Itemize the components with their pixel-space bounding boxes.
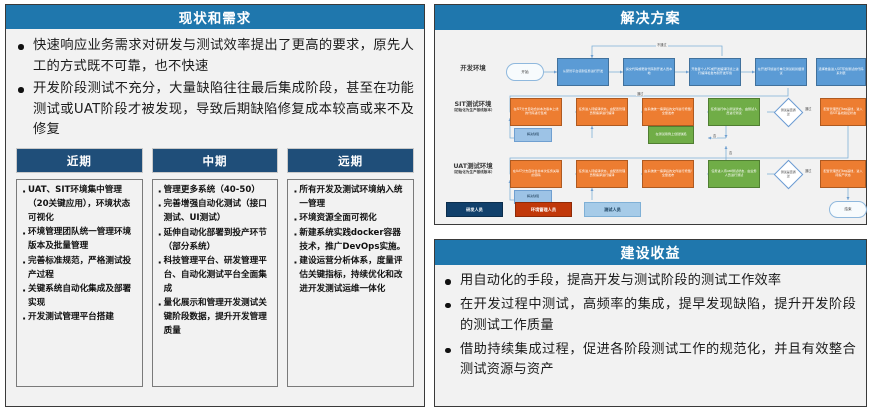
list-item: 完善增强自动化测试（接口测试、UI测试） — [157, 198, 274, 226]
list-item: 关键系统自动化集成及部署实现 — [21, 283, 138, 311]
flow-node-sit-1[interactable]: 在SIT分支自动合并本次版本上线的代码进行集成 — [510, 98, 562, 126]
list-item: 延伸自动化部署到投产环节（部分系统） — [157, 227, 274, 255]
phase-columns: 近期 UAT、SIT环境集中管理（20关键应用），环境状态可视化 环境管理团队统… — [16, 148, 414, 387]
flow-node-end[interactable]: 结束 — [829, 201, 867, 218]
edge-label-pass-dev: 通过 — [636, 91, 644, 96]
flow-node-sit-fix-defect[interactable]: 解决缺陷 — [514, 128, 552, 142]
flow-node-dev-2[interactable]: 提交代码或更新代码到开发人员本地 — [623, 58, 675, 86]
solution-panel: 解决方案 — [434, 4, 867, 225]
list-item: 借助持续集成过程，促进各阶段测试工作的规范化，并且有效整合测试资源与资产 — [443, 340, 856, 382]
flow-node-create-defect[interactable]: 在测试用例上创建缺陷 — [648, 126, 694, 144]
edge-label-no-uat: 否 — [728, 150, 733, 155]
flow-node-uat-5[interactable]: 配置管理员打tag基线，进入待投产状态 — [820, 160, 866, 188]
phase-header-near-term: 近期 — [16, 148, 143, 173]
list-item: 开发测试管理平台搭建 — [21, 311, 138, 325]
list-item: 用自动化的手段，提高开发与测试阶段的测试工作效率 — [443, 271, 856, 292]
slide-canvas: 现状和需求 快速响应业务需求对研发与测试效率提出了更高的要求，原先人工的方式既不… — [0, 0, 871, 411]
list-item: UAT、SIT环境集中管理（20关键应用），环境状态可视化 — [21, 184, 138, 226]
flow-node-sit-5[interactable]: 配置管理员打tag基线，进入待SIT基线验证状态 — [820, 98, 866, 126]
flow-node-uat-1[interactable]: 在UAT分支自动合并本次任务关联的源码 — [510, 160, 562, 188]
flow-node-uat-2[interactable]: 任务进入待编译状态，由配置管理员预编译进行编译 — [576, 160, 628, 188]
phase-box-near-term: UAT、SIT环境集中管理（20关键应用），环境状态可视化 环境管理团队统一管理… — [16, 179, 143, 387]
flow-node-start[interactable]: 开始 — [506, 63, 544, 81]
flow-node-dev-3[interactable]: 开发者个人PC或开发编译环境上进行编译和发布到开发环境 — [689, 58, 741, 86]
phase-list-long-term: 所有开发及测试环境纳入统一管理 环境资源全面可视化 新建系统实践docker容器… — [292, 184, 409, 297]
phase-list-near-term: UAT、SIT环境集中管理（20关键应用），环境状态可视化 环境管理团队统一管理… — [21, 184, 138, 325]
legend-item-env-admin: 环境管理人员 — [515, 202, 572, 217]
row-label-dev-env: 开发环境 — [444, 64, 502, 72]
edge-label-fail-top: 不通过 — [656, 42, 668, 47]
current-status-bullet-list: 快速响应业务需求对研发与测试效率提出了更高的要求，原先人工的方式既不可靠，也不快… — [16, 36, 414, 141]
edge-label-no-sit: 否 — [712, 133, 717, 138]
flow-node-dev-5[interactable]: 选择准备进入SIT环境测试的代码系列表 — [816, 58, 866, 86]
flow-node-uat-3[interactable]: 由系统统一编译后的文件进行增量/全量发布 — [642, 160, 694, 188]
phase-list-mid-term: 管理更多系统（40-50） 完善增强自动化测试（接口测试、UI测试） 延伸自动化… — [157, 184, 274, 339]
edge-label-pass-sit: 通过 — [804, 106, 812, 111]
list-item: 管理更多系统（40-50） — [157, 184, 274, 198]
list-item: 在开发过程中测试，高频率的集成，提早发现缺陷，提升开发阶段的测试工作质量 — [443, 295, 856, 337]
list-item: 新建系统实践docker容器技术，推广DevOps实施。 — [292, 227, 409, 255]
list-item: 开发阶段测试不充分，大量缺陷往往最后集成阶段，甚至在功能测试或UAT阶段才被发现… — [16, 79, 414, 141]
benefits-bullet-list: 用自动化的手段，提高开发与测试阶段的测试工作效率 在开发过程中测试，高频率的集成… — [443, 271, 856, 381]
row-label-sit-env: SIT测试环境 （初始化为生产基线版本） — [442, 100, 504, 113]
legend-item-rd-staff: 研发人员 — [446, 202, 503, 217]
flowchart-legend: 研发人员 环境管理人员 测试人员 — [446, 202, 641, 217]
list-item: 建设运营分析体系，度量评估关键指标，持续优化和改进开发测试运维一体化 — [292, 255, 409, 297]
flow-node-dev-4[interactable]: 在开发环境进行单元测试和冒烟测试 — [755, 58, 807, 86]
list-item: 环境资源全面可视化 — [292, 212, 409, 226]
flow-node-sit-2[interactable]: 任务进入待编译状态，由配置管理员预编译进行编译 — [576, 98, 628, 126]
phase-column-mid-term: 中期 管理更多系统（40-50） 完善增强自动化测试（接口测试、UI测试） 延伸… — [152, 148, 279, 387]
list-item: 所有开发及测试环境纳入统一管理 — [292, 184, 409, 212]
list-item: 科技管理平台、研发管理平台、自动化测试平台全面集成 — [157, 255, 274, 297]
list-item: 完善标准规范，严格测试投产过程 — [21, 255, 138, 283]
legend-item-tester: 测试人员 — [584, 202, 641, 217]
solution-body: 开发环境 SIT测试环境 （初始化为生产基线版本） UAT测试环境 （初始化为生… — [435, 30, 866, 224]
current-status-body: 快速响应业务需求对研发与测试效率提出了更高的要求，原先人工的方式既不可靠，也不快… — [6, 29, 424, 406]
phase-header-mid-term: 中期 — [152, 148, 279, 173]
phase-column-long-term: 远期 所有开发及测试环境纳入统一管理 环境资源全面可视化 新建系统实践docke… — [287, 148, 414, 387]
flow-node-uat-4[interactable]: 任务进入待uat测试状态，由业务人员进行测试 — [708, 160, 760, 188]
benefits-title: 建设收益 — [435, 240, 866, 265]
benefits-body: 用自动化的手段，提高开发与测试阶段的测试工作效率 在开发过程中测试，高频率的集成… — [435, 265, 866, 406]
list-item: 环境管理团队统一管理环境版本及批量管理 — [21, 226, 138, 254]
flow-node-dev-1[interactable]: 从研管平台领到任务进行开发 — [557, 58, 609, 86]
phase-column-near-term: 近期 UAT、SIT环境集中管理（20关键应用），环境状态可视化 环境管理团队统… — [16, 148, 143, 387]
row-label-uat-env: UAT测试环境 （初始化为生产基线版本） — [442, 162, 504, 175]
phase-box-long-term: 所有开发及测试环境纳入统一管理 环境资源全面可视化 新建系统实践docker容器… — [287, 179, 414, 387]
benefits-panel: 建设收益 用自动化的手段，提高开发与测试阶段的测试工作效率 在开发过程中测试，高… — [434, 239, 867, 407]
phase-box-mid-term: 管理更多系统（40-50） 完善增强自动化测试（接口测试、UI测试） 延伸自动化… — [152, 179, 279, 387]
flow-node-sit-4[interactable]: 任务进行中心测试状态，由测试人员进行测试 — [708, 98, 760, 126]
edge-label-pass-uat: 通过 — [804, 168, 812, 173]
list-item: 快速响应业务需求对研发与测试效率提出了更高的要求，原先人工的方式既不可靠，也不快… — [16, 36, 414, 77]
current-status-title: 现状和需求 — [6, 5, 424, 29]
phase-header-long-term: 远期 — [287, 148, 414, 173]
solution-title: 解决方案 — [435, 5, 866, 30]
current-status-panel: 现状和需求 快速响应业务需求对研发与测试效率提出了更高的要求，原先人工的方式既不… — [5, 4, 425, 407]
list-item: 量化展示和管理开发测试关键阶段数据，提升开发管理质量 — [157, 297, 274, 339]
solution-flowchart: 开发环境 SIT测试环境 （初始化为生产基线版本） UAT测试环境 （初始化为生… — [440, 34, 861, 220]
flow-node-sit-3[interactable]: 由系统统一编译后的文件进行增量/全量发布 — [642, 98, 694, 126]
